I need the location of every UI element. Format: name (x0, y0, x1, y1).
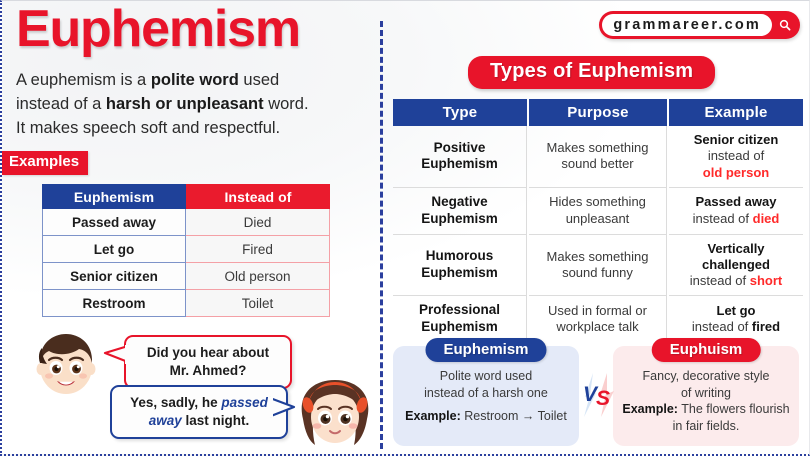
column-header-type: Type (393, 99, 527, 126)
section-banner-types: Types of Euphemism (468, 56, 715, 89)
bubble-boy-line2: Mr. Ahmed? (170, 363, 247, 378)
example-harsh-word: fired (752, 319, 780, 334)
column-header-instead-of: Instead of (186, 184, 330, 209)
compare-left-example-value: Restroom → Toilet (461, 409, 567, 423)
infographic-page: Euphemism A euphemism is a polite word u… (0, 0, 810, 456)
cell-purpose: Hides something unpleasant (529, 188, 667, 235)
compare-right-line3: in fair fields. (673, 419, 740, 433)
site-logo[interactable]: grammareer.com (599, 11, 800, 39)
type-line2: Euphemism (421, 319, 498, 334)
example-term: Let go (717, 303, 756, 318)
cell-example: Senior citizen instead of old person (669, 126, 803, 188)
definition-line3: It makes speech soft and respectful. (16, 119, 280, 137)
example-connector: instead of (708, 148, 764, 163)
example-harsh-word: short (750, 273, 783, 288)
purpose-line2: sound better (561, 156, 633, 171)
type-line2: Euphemism (421, 211, 498, 226)
table-row: Passed away Died (42, 209, 330, 236)
cell-example: Passed away instead of died (669, 188, 803, 235)
example-connector: instead of (692, 319, 752, 334)
column-header-euphemism: Euphemism (42, 184, 186, 209)
column-header-purpose: Purpose (529, 99, 667, 126)
cell-type: Humorous Euphemism (393, 235, 527, 297)
compare-badge-euphuism: Euphuism (652, 338, 761, 362)
speech-bubble-boy-tail (103, 344, 129, 366)
boy-face-avatar (27, 331, 105, 397)
cell-type: Professional Euphemism (393, 296, 527, 342)
examples-table: Euphemism Instead of Passed away Died Le… (42, 184, 330, 317)
table-row: Professional Euphemism Used in formal or… (393, 296, 803, 342)
left-column: Euphemism A euphemism is a polite word u… (2, 1, 380, 457)
compare-body-euphuism: Fancy, decorative style of writing Examp… (618, 368, 794, 435)
table-header-row: Type Purpose Example (393, 99, 803, 126)
cell-instead-of: Died (186, 209, 330, 236)
compare-badge-euphemism: Euphemism (425, 338, 546, 362)
purpose-line1: Used in formal or (548, 303, 647, 318)
type-line1: Professional (419, 302, 500, 317)
examples-label: Examples (2, 151, 88, 175)
definition-harsh-word: harsh or unpleasant (106, 95, 264, 113)
cell-euphemism: Let go (42, 236, 186, 263)
example-harsh-word: old person (703, 165, 769, 180)
page-title: Euphemism (16, 3, 300, 55)
definition-line2-c: word. (264, 95, 309, 113)
purpose-line1: Makes something (547, 249, 649, 264)
definition-line2-a: instead of a (16, 95, 106, 113)
table-row: Positive Euphemism Makes something sound… (393, 126, 803, 188)
column-header-example: Example (669, 99, 803, 126)
type-line1: Negative (431, 194, 487, 209)
type-line1: Humorous (426, 248, 494, 263)
cell-euphemism: Passed away (42, 209, 186, 236)
cell-instead-of: Toilet (186, 290, 330, 317)
type-line2: Euphemism (421, 156, 498, 171)
table-row: Senior citizen Old person (42, 263, 330, 290)
cell-instead-of: Old person (186, 263, 330, 290)
compare-left-line2: instead of a harsh one (424, 386, 548, 400)
cell-example: Let go instead of fired (669, 296, 803, 342)
versus-icon: V S (576, 371, 620, 419)
purpose-line2: workplace talk (556, 319, 638, 334)
example-term: Vertically (707, 241, 764, 256)
type-line2: Euphemism (421, 265, 498, 280)
table-row: Humorous Euphemism Makes something sound… (393, 235, 803, 297)
compare-card-euphemism: Euphemism Polite word used instead of a … (393, 346, 579, 446)
purpose-line2: sound funny (562, 265, 633, 280)
compare-left-line1: Polite word used (440, 369, 532, 383)
purpose-line2: unpleasant (566, 211, 630, 226)
example-term: Senior citizen (694, 132, 779, 147)
cell-type: Negative Euphemism (393, 188, 527, 235)
cell-euphemism: Senior citizen (42, 263, 186, 290)
logo-pill: grammareer.com (602, 14, 772, 36)
girl-face-avatar (294, 375, 376, 451)
search-icon[interactable] (776, 16, 794, 34)
example-connector: instead of (693, 211, 753, 226)
table-row: Negative Euphemism Hides something unple… (393, 188, 803, 235)
compare-right-line1: Fancy, decorative style (643, 369, 770, 383)
right-column: grammareer.com Types of Euphemism Type P… (380, 1, 810, 457)
bubble-boy-line1: Did you hear about (147, 345, 269, 360)
compare-right-example-value: The flowers flourish (678, 402, 790, 416)
type-line1: Positive (434, 140, 486, 155)
compare-card-euphuism: Euphuism Fancy, decorative style of writ… (613, 346, 799, 446)
definition-polite-word: polite word (151, 71, 239, 89)
speech-bubble-girl: Yes, sadly, he passed away last night. (110, 385, 288, 439)
cell-euphemism: Restroom (42, 290, 186, 317)
bubble-girl-post: last night. (182, 413, 250, 428)
example-term-line2: challenged (702, 257, 770, 272)
bubble-girl-pre: Yes, sadly, he (130, 395, 221, 410)
compare-right-line2: of writing (681, 386, 731, 400)
example-connector: instead of (690, 273, 750, 288)
logo-text: grammareer.com (613, 17, 761, 33)
cell-purpose: Makes something sound better (529, 126, 667, 188)
compare-body-euphemism: Polite word used instead of a harsh one … (398, 368, 574, 425)
svg-text:S: S (596, 387, 610, 410)
cell-instead-of: Fired (186, 236, 330, 263)
definition-paragraph: A euphemism is a polite word used instea… (16, 69, 364, 141)
speech-bubble-boy: Did you hear about Mr. Ahmed? (124, 335, 292, 389)
purpose-line1: Makes something (547, 140, 649, 155)
cell-type: Positive Euphemism (393, 126, 527, 188)
purpose-line1: Hides something (549, 194, 646, 209)
table-header-row: Euphemism Instead of (42, 184, 330, 209)
cell-example: Vertically challenged instead of short (669, 235, 803, 297)
cell-purpose: Used in formal or workplace talk (529, 296, 667, 342)
table-row: Let go Fired (42, 236, 330, 263)
example-term: Passed away (696, 194, 777, 209)
definition-line1-c: used (239, 71, 279, 89)
definition-line1-a: A euphemism is a (16, 71, 151, 89)
cell-purpose: Makes something sound funny (529, 235, 667, 297)
compare-right-example-label: Example: (622, 402, 678, 416)
compare-left-example-label: Example: (405, 409, 461, 423)
speech-bubble-girl-tail (268, 396, 296, 420)
table-row: Restroom Toilet (42, 290, 330, 317)
types-table: Type Purpose Example Positive Euphemism … (391, 99, 805, 342)
example-harsh-word: died (753, 211, 780, 226)
